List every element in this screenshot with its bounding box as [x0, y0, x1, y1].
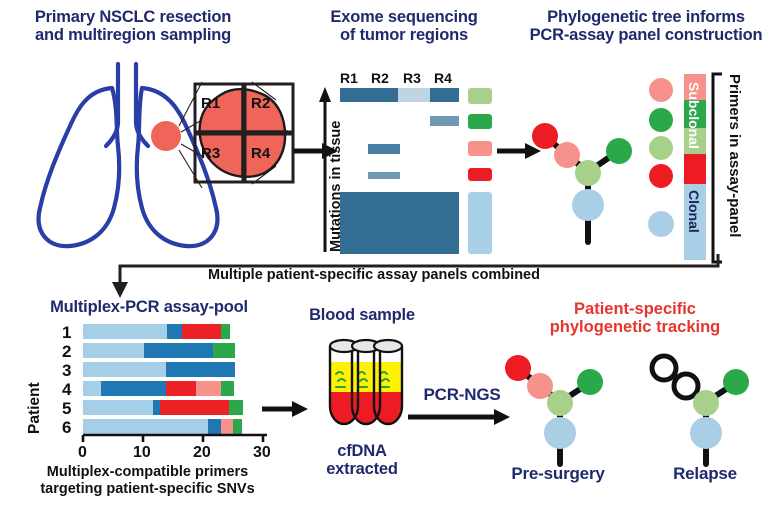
tree-node-salmon	[554, 142, 580, 168]
primer-dot-lightgreen	[649, 136, 673, 160]
region-label-r3: R3	[201, 145, 220, 162]
exome-col-r4: R4	[434, 70, 452, 86]
pre-node-clonal	[544, 417, 576, 449]
phylo-title-line1: Phylogenetic tree informs	[520, 8, 772, 26]
patient-label-4: 4	[62, 380, 71, 400]
primer-dot-salmon	[649, 78, 673, 102]
relapse-node-lost-red	[652, 356, 676, 380]
relapse-node-lost-salmon	[674, 374, 698, 398]
patient-label-5: 5	[62, 399, 71, 419]
primer-dot-red	[649, 164, 673, 188]
tree-label-pre-surgery: Pre-surgery	[488, 464, 628, 483]
exome-col-r1: R1	[340, 70, 358, 86]
exome-heatmap	[340, 88, 492, 254]
bar-row-patient-3	[83, 362, 235, 377]
legend-label-clonal: Clonal	[686, 190, 702, 233]
phylo-panel-title: Phylogenetic tree informs PCR-assay pane…	[520, 8, 772, 45]
tree-node-green	[606, 138, 632, 164]
x-axis-label-line1: Multiplex-compatible primers	[10, 464, 285, 481]
exome-title-line1: Exome sequencing	[306, 8, 502, 26]
patient-label-3: 3	[62, 361, 71, 381]
tube-caps	[330, 340, 402, 352]
assay-panel-bracket	[710, 72, 724, 264]
pre-node-red	[505, 355, 531, 381]
assay-pool-x-axis	[79, 433, 271, 447]
resection-title-line1: Primary NSCLC resection	[8, 8, 258, 26]
blood-caption-line1: cfDNA	[300, 442, 424, 460]
exome-title: Exome sequencing of tumor regions	[306, 8, 502, 45]
blood-caption: cfDNA extracted	[300, 442, 424, 479]
tracking-title: Patient-specific phylogenetic tracking	[500, 300, 770, 337]
region-label-r2: R2	[251, 95, 270, 112]
x-axis-label-line2: targeting patient-specific SNVs	[10, 481, 285, 498]
assay-pool-y-axis-label: Patient	[26, 348, 44, 434]
pre-node-lightgreen	[547, 390, 573, 416]
patient-label-1: 1	[62, 323, 71, 343]
tracking-title-line2: phylogenetic tracking	[500, 318, 770, 336]
tree-label-relapse: Relapse	[640, 464, 770, 483]
bar-row-patient-1	[83, 324, 230, 339]
relapse-node-green	[723, 369, 749, 395]
relapse-node-lightgreen	[693, 390, 719, 416]
assay-pool-title: Multiplex-PCR assay-pool	[24, 298, 274, 316]
x-tick-20: 20	[193, 444, 211, 462]
primary-tumor-spot	[151, 121, 181, 151]
primer-dot-green	[649, 108, 673, 132]
x-tick-30: 30	[253, 444, 271, 462]
blood-tubes	[320, 334, 420, 434]
bar-row-patient-6	[83, 419, 242, 434]
pre-node-salmon	[527, 373, 553, 399]
tracking-title-line1: Patient-specific	[500, 300, 770, 318]
phylo-title-line2: PCR-assay panel construction	[520, 26, 772, 44]
tree-pre-surgery	[494, 348, 624, 468]
bar-row-patient-4	[83, 381, 234, 396]
tree-node-red	[532, 123, 558, 149]
blood-caption-line2: extracted	[300, 460, 424, 478]
exome-col-r2: R2	[371, 70, 389, 86]
exome-title-line2: of tumor regions	[306, 26, 502, 44]
figure-canvas: Primary NSCLC resection and multiregion …	[0, 0, 779, 522]
pre-node-green	[577, 369, 603, 395]
primer-dots-column	[644, 76, 678, 244]
region-label-r1: R1	[201, 95, 220, 112]
x-tick-10: 10	[133, 444, 151, 462]
patient-label-2: 2	[62, 342, 71, 362]
arrow-pool-to-blood	[262, 398, 310, 420]
combine-arrow-label: Multiple patient-specific assay panels c…	[208, 267, 540, 283]
region-label-r4: R4	[251, 145, 270, 162]
tree-relapse	[640, 348, 770, 468]
primer-dot-clonal	[648, 211, 674, 237]
assay-pool-x-axis-label: Multiplex-compatible primers targeting p…	[10, 464, 285, 497]
bar-row-patient-2	[83, 343, 235, 358]
assay-panel-bracket-label: Primers in assay-panel	[726, 74, 743, 264]
phylogenetic-tree-top	[520, 108, 640, 258]
bar-row-patient-5	[83, 400, 243, 415]
exome-col-r3: R3	[403, 70, 421, 86]
relapse-node-clonal	[690, 417, 722, 449]
resection-title: Primary NSCLC resection and multiregion …	[8, 8, 258, 45]
tree-node-lightgreen	[575, 160, 601, 186]
patient-label-6: 6	[62, 418, 71, 438]
x-tick-0: 0	[78, 444, 87, 462]
legend-label-subclonal: Subclonal	[686, 82, 702, 149]
blood-title: Blood sample	[288, 306, 436, 324]
tree-node-clonal	[572, 189, 604, 221]
resection-title-line2: and multiregion sampling	[8, 26, 258, 44]
assay-pool-bars	[83, 322, 273, 442]
